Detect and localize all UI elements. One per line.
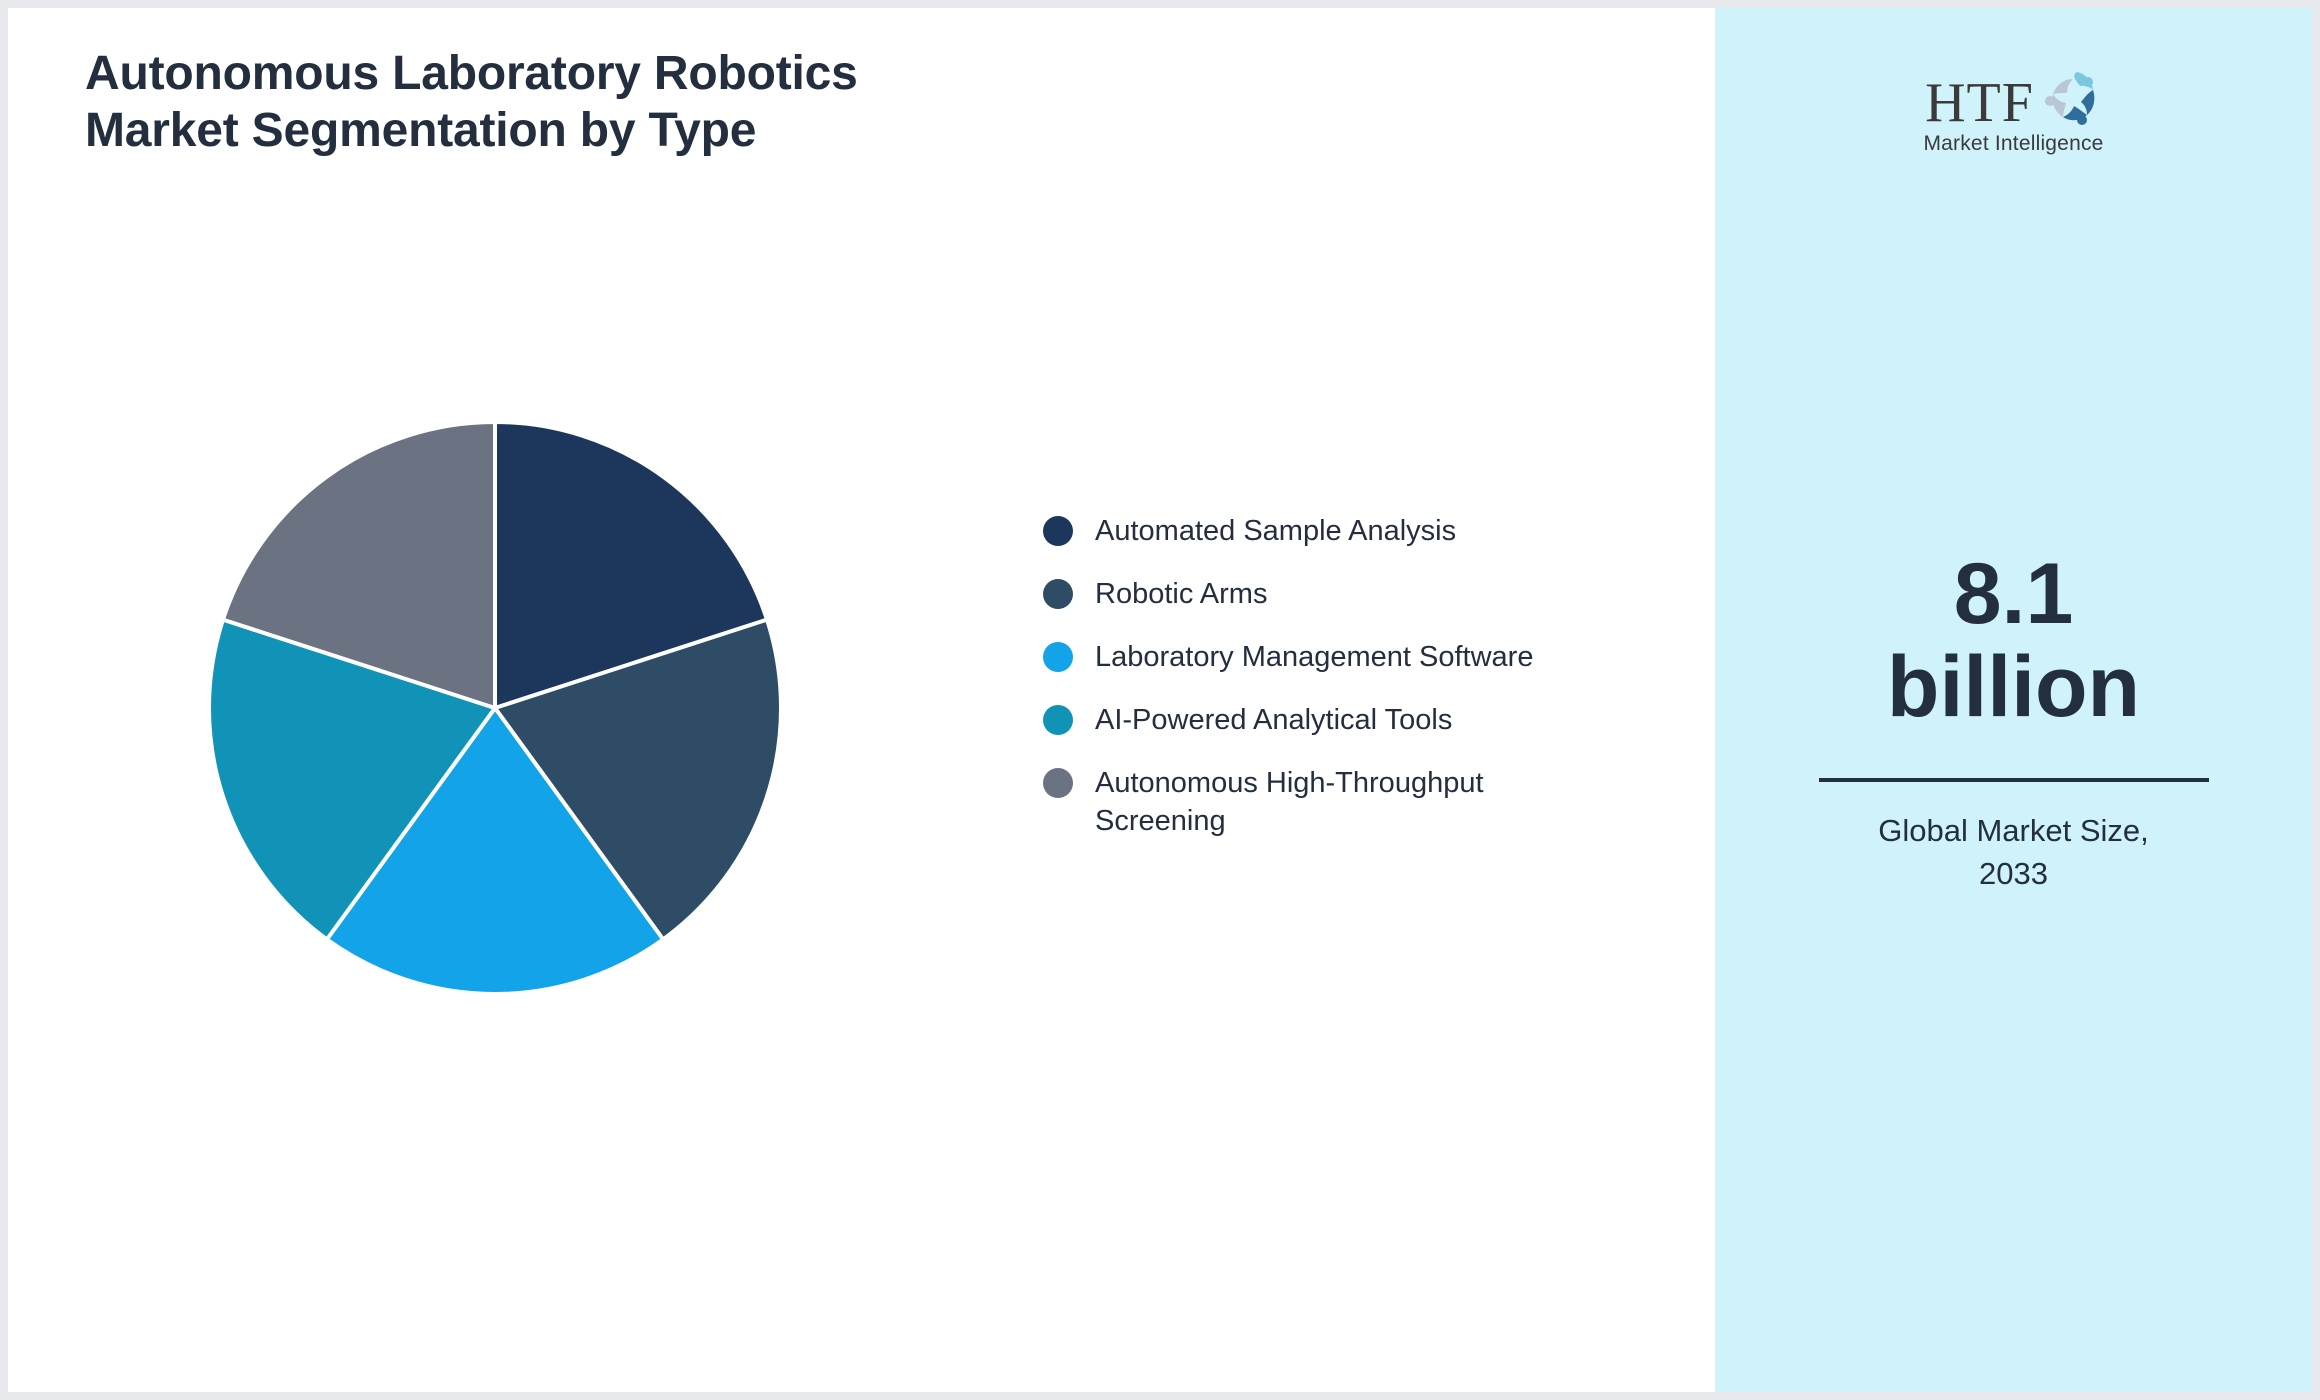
stat-caption: Global Market Size, 2033 — [1715, 810, 2312, 896]
htf-swirl-people-icon — [2036, 68, 2102, 130]
pie-chart-svg — [205, 418, 785, 998]
stat-side-panel: HTF Market Intelligence 8.1 — [1715, 8, 2312, 1392]
stat-unit: billion — [1715, 641, 2312, 734]
page-title-line-1: Autonomous Laboratory Robotics — [85, 46, 1185, 103]
pie-chart — [205, 418, 785, 998]
brand-tagline: Market Intelligence — [1899, 132, 2129, 156]
market-size-stat: 8.1 billion Global Market Size, 2033 — [1715, 548, 2312, 895]
stat-caption-line-2: 2033 — [1979, 856, 2048, 891]
page-title: Autonomous Laboratory Robotics Market Se… — [85, 46, 1185, 159]
legend-swatch-icon — [1043, 768, 1073, 798]
infographic-canvas: Autonomous Laboratory Robotics Market Se… — [8, 8, 2312, 1392]
chart-main-area: Autonomous Laboratory Robotics Market Se… — [8, 8, 1715, 1392]
legend-swatch-icon — [1043, 642, 1073, 672]
stat-divider — [1819, 778, 2209, 782]
legend-label: Robotic Arms — [1095, 576, 1267, 613]
brand-logo-row: HTF — [1899, 68, 2129, 130]
legend-item-laboratory-management-software[interactable]: Laboratory Management Software — [1043, 639, 1663, 676]
legend-label: Laboratory Management Software — [1095, 639, 1533, 676]
chart-legend: Automated Sample Analysis Robotic Arms L… — [1043, 513, 1663, 840]
legend-item-automated-sample-analysis[interactable]: Automated Sample Analysis — [1043, 513, 1663, 550]
legend-item-ai-powered-analytical-tools[interactable]: AI-Powered Analytical Tools — [1043, 702, 1663, 739]
infographic-page: Autonomous Laboratory Robotics Market Se… — [0, 0, 2320, 1400]
legend-swatch-icon — [1043, 516, 1073, 546]
legend-label: AI-Powered Analytical Tools — [1095, 702, 1452, 739]
stat-value: 8.1 — [1715, 548, 2312, 641]
stat-caption-line-1: Global Market Size, — [1878, 813, 2149, 848]
legend-item-robotic-arms[interactable]: Robotic Arms — [1043, 576, 1663, 613]
legend-swatch-icon — [1043, 705, 1073, 735]
brand-logo: HTF Market Intelligence — [1899, 68, 2129, 156]
legend-item-autonomous-high-throughput-screening[interactable]: Autonomous High-Throughput Screening — [1043, 765, 1663, 839]
legend-swatch-icon — [1043, 579, 1073, 609]
page-title-line-2: Market Segmentation by Type — [85, 103, 1185, 160]
legend-label: Autonomous High-Throughput Screening — [1095, 765, 1565, 839]
brand-name: HTF — [1925, 77, 2034, 130]
legend-label: Automated Sample Analysis — [1095, 513, 1456, 550]
